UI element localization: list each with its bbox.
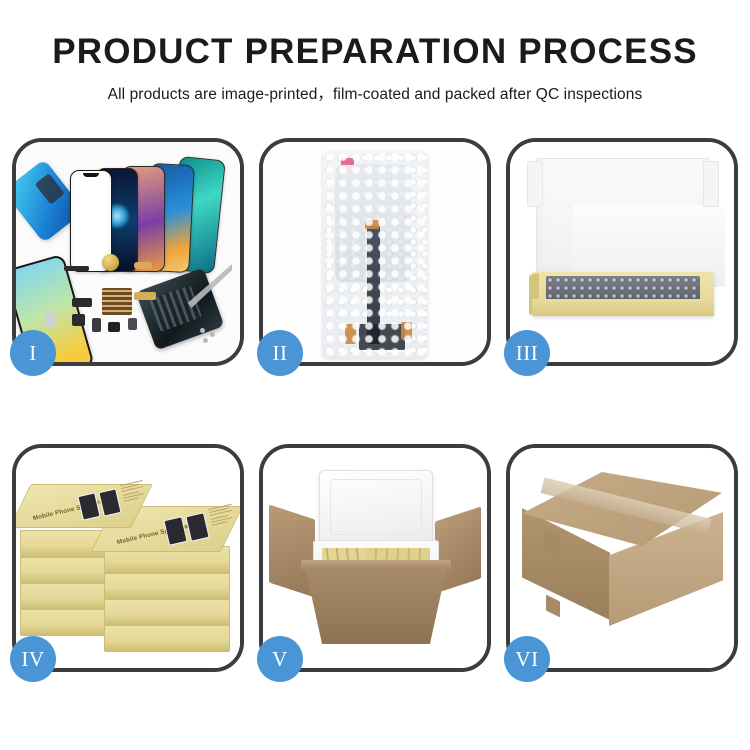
box-lid-icon xyxy=(536,158,710,280)
carton-body-icon xyxy=(305,566,447,644)
bubble-wrap-bag-icon xyxy=(323,152,427,358)
step-badge-5: V xyxy=(257,636,303,682)
process-step-panel-3[interactable]: III xyxy=(506,138,738,366)
carton-flap-left-icon xyxy=(269,505,315,598)
silver-bracket-icon xyxy=(46,312,56,328)
sensor-part-icon xyxy=(128,318,137,330)
pink-qc-label-icon xyxy=(341,158,354,165)
earpiece-part-icon xyxy=(64,266,89,271)
button-part-icon xyxy=(72,314,85,326)
stacked-box-icon xyxy=(104,598,230,626)
kraft-box-tray-icon xyxy=(532,272,714,316)
speaker-part-icon xyxy=(108,322,120,332)
step-5-image xyxy=(263,448,487,668)
gold-connector-icon xyxy=(365,220,379,229)
step-badge-4: IV xyxy=(10,636,56,682)
step-badge-3: III xyxy=(504,330,550,376)
step-6-image xyxy=(510,448,734,668)
foam-lid-icon xyxy=(319,470,433,546)
gold-flex-part-icon xyxy=(134,292,156,300)
step-badge-1: I xyxy=(10,330,56,376)
step-badge-6: VI xyxy=(504,636,550,682)
connector-grid-icon xyxy=(102,288,132,315)
stacked-box-icon xyxy=(104,624,230,652)
step-3-image xyxy=(510,142,734,362)
screws-icon xyxy=(200,328,226,344)
page-title: PRODUCT PREPARATION PROCESS xyxy=(0,34,750,71)
process-step-panel-6[interactable]: VI xyxy=(506,444,738,672)
stacked-box-icon xyxy=(104,572,230,600)
header: PRODUCT PREPARATION PROCESS All products… xyxy=(0,0,750,104)
phone-fan-group xyxy=(62,152,240,272)
process-step-panel-4[interactable]: Mobile Phone Spare Parts Mobile Phone Sp… xyxy=(12,444,244,672)
bubble-wrapped-contents-icon xyxy=(546,276,700,300)
poster-canvas: PRODUCT PREPARATION PROCESS All products… xyxy=(0,0,750,750)
process-step-panel-2[interactable]: II xyxy=(259,138,491,366)
process-step-panel-5[interactable]: V xyxy=(259,444,491,672)
step-4-image: Mobile Phone Spare Parts Mobile Phone Sp… xyxy=(16,448,240,668)
step-2-image xyxy=(263,142,487,362)
step-badge-2: II xyxy=(257,330,303,376)
flex-cable-part-icon xyxy=(134,262,152,269)
box-spec-lines xyxy=(120,479,150,503)
gold-connector-right-icon xyxy=(401,322,412,340)
sim-tray-part-icon xyxy=(92,318,101,332)
step-1-image xyxy=(16,142,240,362)
process-step-panel-1[interactable]: I xyxy=(12,138,244,366)
vibration-motor-icon xyxy=(102,254,119,271)
box-stack-group: Mobile Phone Spare Parts Mobile Phone Sp… xyxy=(20,466,236,656)
process-step-grid: I II xyxy=(12,138,738,672)
lcd-connector-block-icon xyxy=(359,324,405,350)
camera-part-icon xyxy=(72,298,92,307)
page-subtitle: All products are image-printed，film-coat… xyxy=(0,82,750,104)
gold-connector-left-icon xyxy=(345,324,356,344)
